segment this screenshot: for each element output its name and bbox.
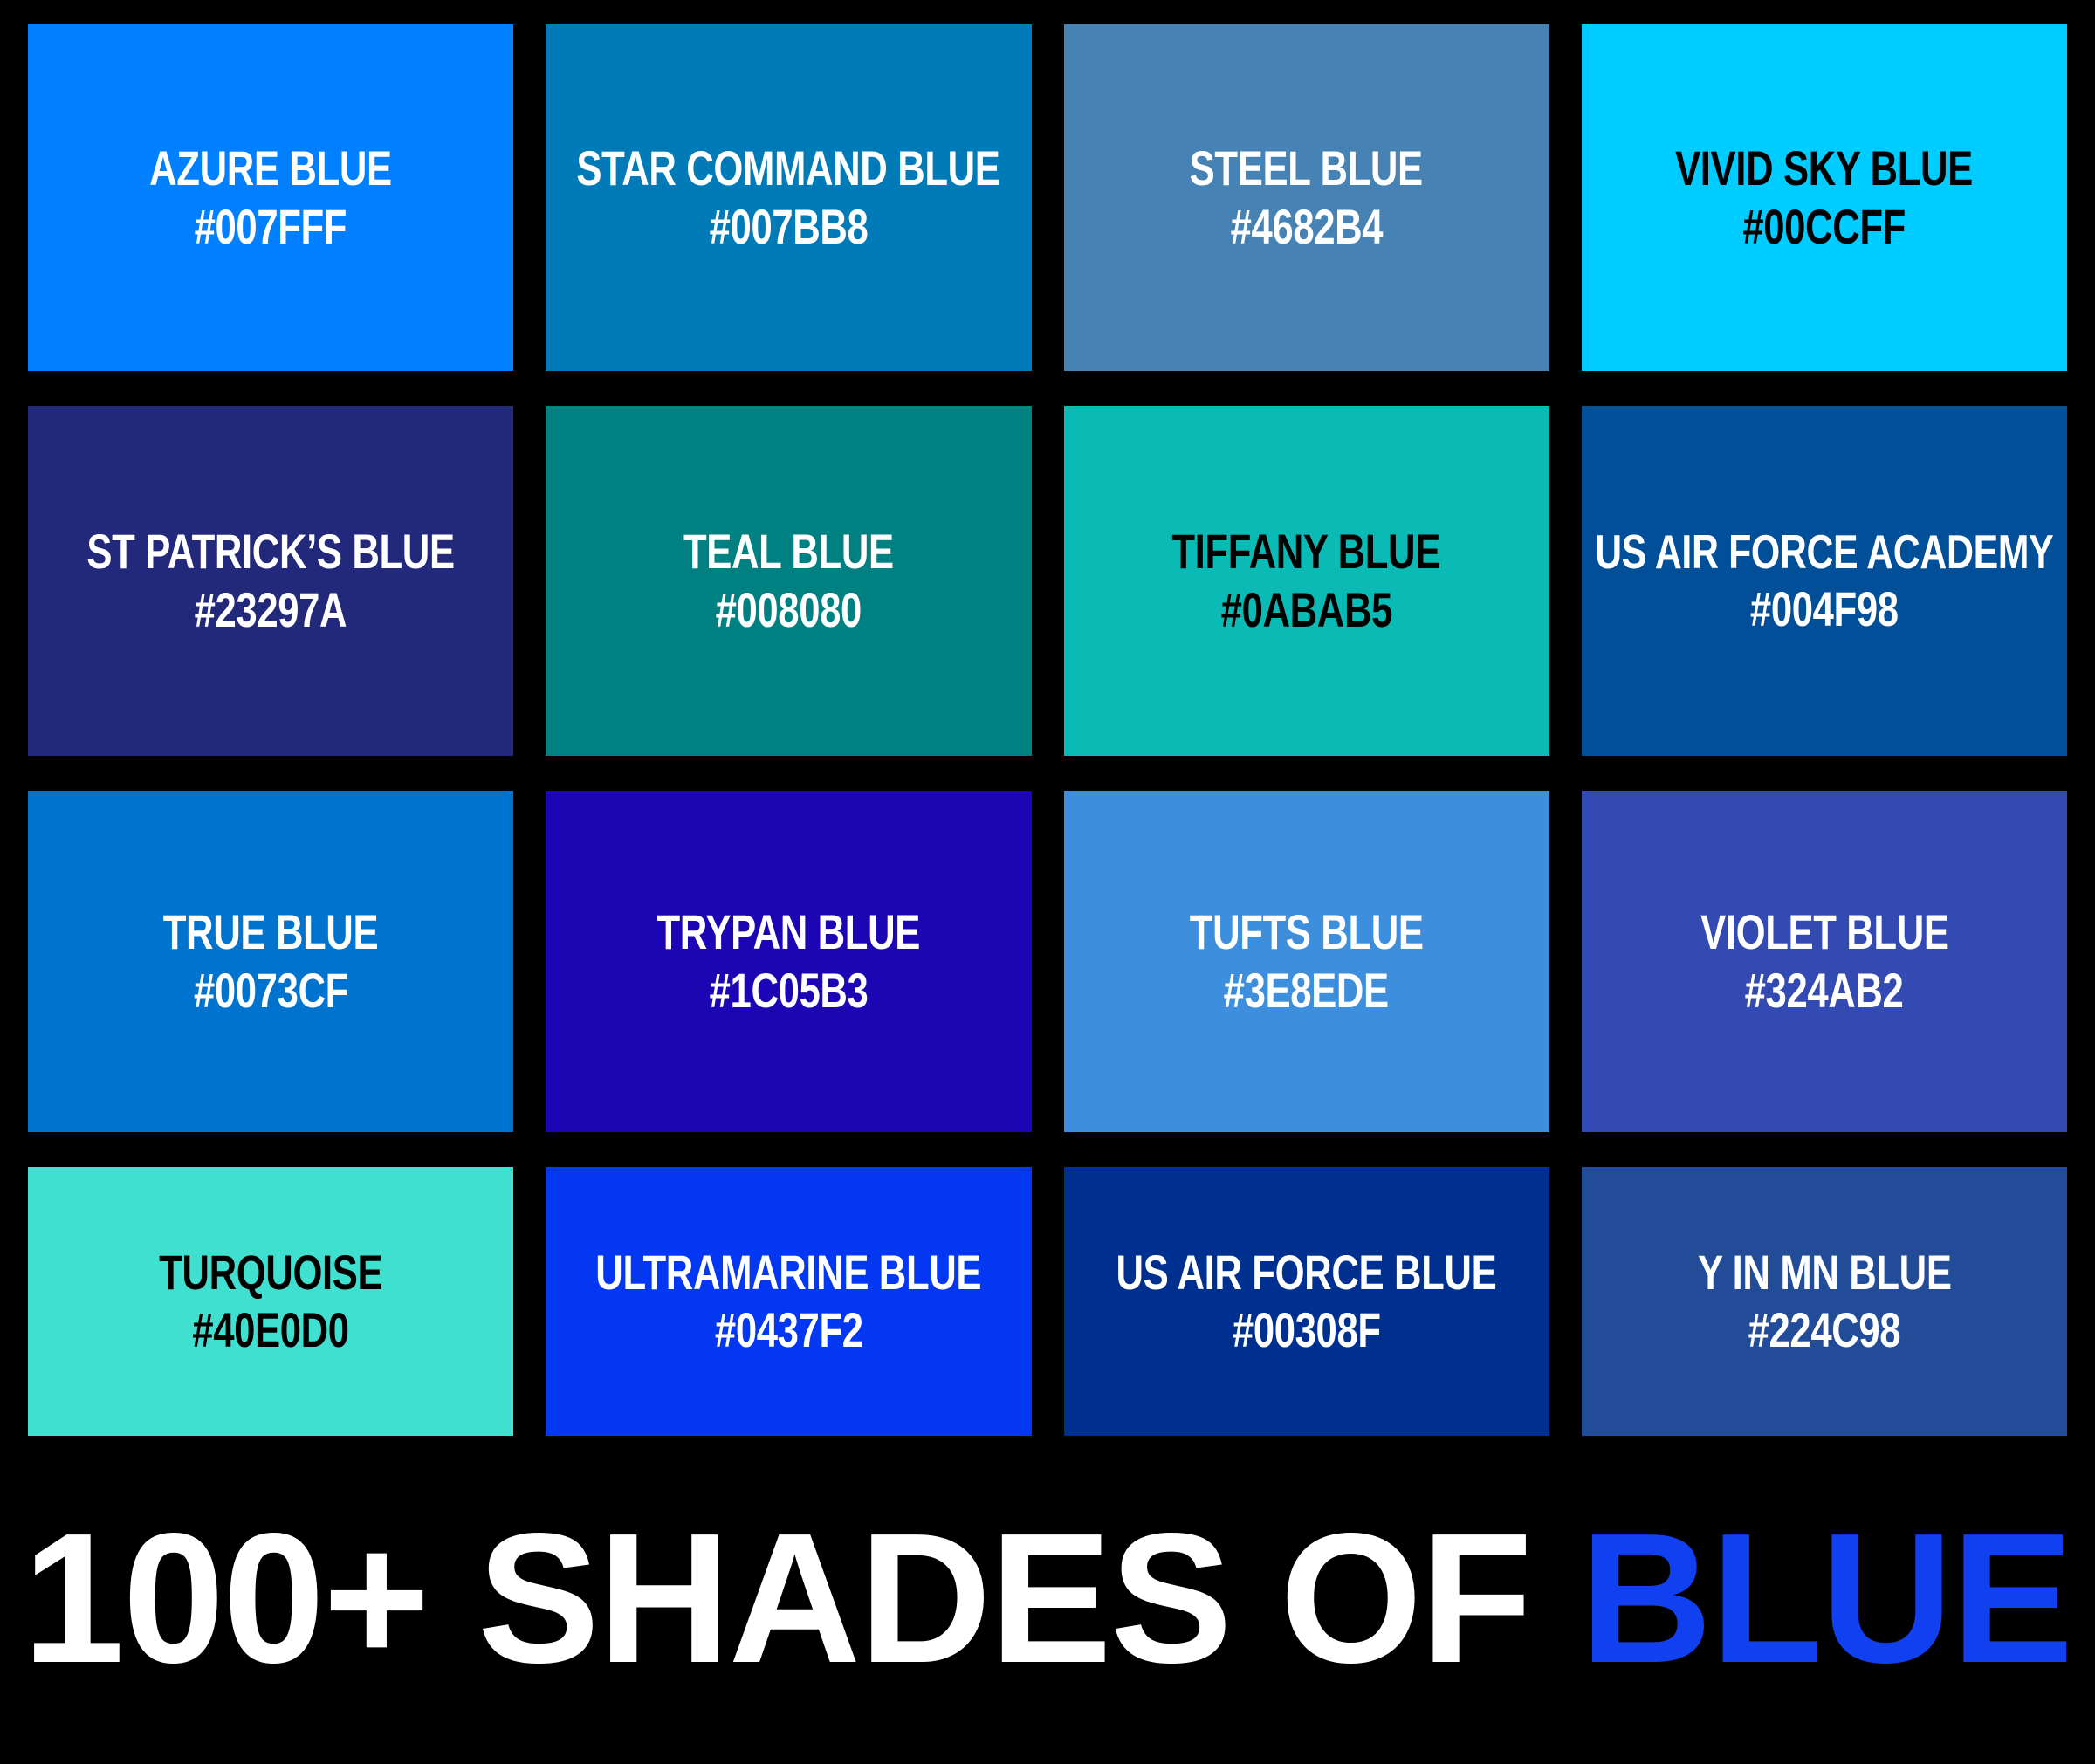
swatch-name: ULTRAMARINE BLUE (595, 1247, 981, 1298)
swatch-hex-code: #3E8EDE (1224, 965, 1389, 1016)
swatch-hex-code: #00CCFF (1743, 202, 1906, 252)
swatch-hex-code: #00308F (1233, 1305, 1381, 1356)
swatch-name: VIOLET BLUE (1700, 907, 1948, 958)
swatch-name: TUFTS BLUE (1190, 907, 1424, 958)
swatch-hex-code: #0ABAB5 (1220, 585, 1391, 635)
color-swatch[interactable]: TRYPAN BLUE#1C05B3 (546, 791, 1031, 1132)
swatch-name: VIVID SKY BLUE (1675, 143, 1973, 194)
color-swatch[interactable]: US AIR FORCE BLUE#00308F (1064, 1167, 1549, 1436)
poster-title: 100+ SHADES OF BLUE (0, 1453, 2095, 1764)
color-swatch[interactable]: TEAL BLUE#008080 (546, 406, 1031, 756)
swatch-name: ST PATRICK’S BLUE (86, 526, 454, 577)
poster-title-line: 100+ SHADES OF BLUE (23, 1522, 2072, 1674)
color-swatch[interactable]: US AIR FORCE ACADEMY#004F98 (1582, 406, 2067, 756)
color-swatch[interactable]: VIOLET BLUE#324AB2 (1582, 791, 2067, 1132)
swatch-hex-code: #008080 (716, 585, 862, 635)
swatch-name: TRUE BLUE (163, 907, 378, 958)
color-swatch[interactable]: Y IN MN BLUE#224C98 (1582, 1167, 2067, 1436)
swatch-hex-code: #324AB2 (1745, 965, 1904, 1016)
swatch-name: STEEL BLUE (1190, 143, 1423, 194)
swatch-name: Y IN MN BLUE (1698, 1247, 1952, 1298)
poster-title-main: 100+ SHADES OF (23, 1494, 1580, 1701)
swatch-name: TIFFANY BLUE (1172, 526, 1441, 577)
color-swatch[interactable]: STEEL BLUE#4682B4 (1064, 24, 1549, 371)
swatch-hex-code: #0073CF (194, 965, 348, 1016)
swatch-name: US AIR FORCE ACADEMY (1595, 527, 2053, 577)
swatch-hex-code: #004F98 (1750, 584, 1899, 635)
swatch-name: STAR COMMAND BLUE (577, 143, 1000, 194)
color-swatch[interactable]: TRUE BLUE#0073CF (28, 791, 513, 1132)
swatch-name: AZURE BLUE (149, 143, 392, 194)
color-swatch[interactable]: ST PATRICK’S BLUE#23297A (28, 406, 513, 756)
swatch-hex-code: #224C98 (1748, 1305, 1901, 1356)
color-swatch[interactable]: TUFTS BLUE#3E8EDE (1064, 791, 1549, 1132)
swatch-hex-code: #007FFF (195, 202, 347, 252)
swatch-hex-code: #23297A (195, 585, 347, 635)
color-swatch[interactable]: STAR COMMAND BLUE#007BB8 (546, 24, 1031, 371)
color-palette-poster: AZURE BLUE#007FFFSTAR COMMAND BLUE#007BB… (0, 0, 2095, 1764)
color-swatch[interactable]: ULTRAMARINE BLUE#0437F2 (546, 1167, 1031, 1436)
color-swatch[interactable]: AZURE BLUE#007FFF (28, 24, 513, 371)
swatch-name: TEAL BLUE (683, 526, 894, 577)
color-swatch[interactable]: TURQUOISE#40E0D0 (28, 1167, 513, 1436)
swatch-name: TURQUOISE (159, 1247, 382, 1298)
color-swatch[interactable]: VIVID SKY BLUE#00CCFF (1582, 24, 2067, 371)
swatch-hex-code: #40E0D0 (192, 1305, 348, 1356)
swatch-name: US AIR FORCE BLUE (1116, 1247, 1497, 1298)
color-swatch[interactable]: TIFFANY BLUE#0ABAB5 (1064, 406, 1549, 756)
swatch-hex-code: #4682B4 (1230, 202, 1383, 252)
swatch-grid: AZURE BLUE#007FFFSTAR COMMAND BLUE#007BB… (0, 0, 2095, 1453)
swatch-hex-code: #007BB8 (709, 202, 868, 252)
swatch-hex-code: #0437F2 (715, 1305, 863, 1356)
swatch-name: TRYPAN BLUE (657, 907, 920, 958)
poster-title-accent: BLUE (1580, 1494, 2071, 1701)
swatch-hex-code: #1C05B3 (709, 965, 868, 1016)
